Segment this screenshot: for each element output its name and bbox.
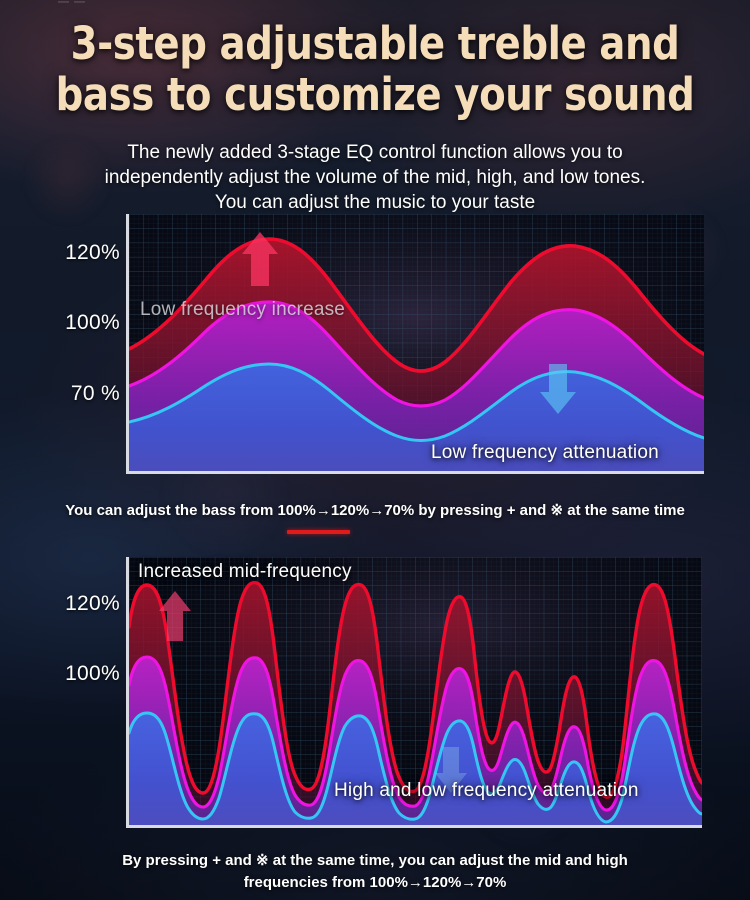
page-title: 3-step adjustable treble and bass to cus…	[53, 18, 698, 120]
top-cut-off-fragment: — —	[58, 0, 114, 6]
page-subtitle-line-3: You can adjust the music to your taste	[0, 190, 750, 215]
page-subtitle-line-2: independently adjust the volume of the m…	[0, 165, 750, 190]
chart-one-ytick-100: 100%	[40, 311, 120, 335]
caption-bass-adjust: You can adjust the bass from 100%→120%→7…	[0, 500, 750, 522]
chart-two-svg	[129, 557, 702, 825]
page-subtitle: The newly added 3-stage EQ control funct…	[0, 140, 750, 215]
page-subtitle-line-1: The newly added 3-stage EQ control funct…	[0, 140, 750, 165]
promo-page: — — 3-step adjustable treble and bass to…	[0, 0, 750, 900]
caption-mid-high-line-1: By pressing + and ※ at the same time, yo…	[0, 850, 750, 872]
caption-mid-high-adjust: By pressing + and ※ at the same time, yo…	[0, 850, 750, 894]
caption-bass-adjust-text: You can adjust the bass from 100%→120%→7…	[0, 500, 750, 522]
chart-two-plot	[126, 557, 702, 828]
chart-one-ytick-120: 120%	[40, 241, 120, 265]
chart-one-svg	[129, 214, 704, 471]
page-title-line-1: 3-step adjustable treble and	[53, 18, 698, 69]
chart-two-ytick-100: 100%	[40, 662, 120, 686]
chart-one-bass-eq: Low frequency increase Low frequency att…	[126, 214, 704, 474]
page-title-line-2: bass to customize your sound	[53, 69, 698, 120]
chart-one-ytick-70: 70 %	[40, 382, 120, 406]
chart-one-plot	[126, 214, 704, 474]
caption-underline-bar	[287, 530, 350, 534]
chart-two-mid-high-eq: Increased mid-frequency High and low fre…	[126, 557, 702, 828]
caption-mid-high-line-2: frequencies from 100%→120%→70%	[0, 872, 750, 894]
chart-two-ytick-120: 120%	[40, 592, 120, 616]
